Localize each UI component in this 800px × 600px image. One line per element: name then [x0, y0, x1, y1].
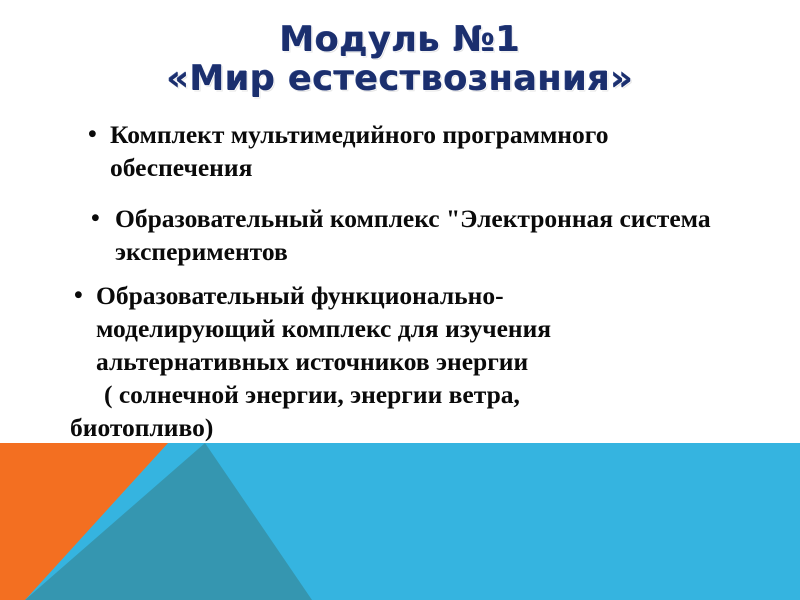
bullet-item-1: • Комплект мультимедийного программного … [0, 118, 800, 184]
bullet-marker-3: • [74, 280, 83, 313]
bullet-3-line-4: ( солнечной энергии, энергии ветра, [104, 378, 776, 411]
bullet-text-1: Комплект мультимедийного программного об… [110, 118, 750, 184]
bullet-marker-2: • [91, 203, 100, 236]
bullet-3-line-1: Образовательный функционально- [96, 279, 776, 312]
bullet-3-line-5: биотопливо) [70, 411, 776, 444]
slide-body: • Комплект мультимедийного программного … [0, 118, 800, 444]
bottom-decoration-band [0, 443, 800, 600]
title-line-1: Модуль №1 [0, 22, 800, 59]
bullet-item-3: • Образовательный функционально- моделир… [0, 279, 800, 445]
bullet-3-line-3: альтернативных источников энергии [96, 345, 776, 378]
bullet-text-2: Образовательный комплекс "Электронная си… [115, 202, 755, 268]
bullet-item-2: • Образовательный комплекс "Электронная … [0, 202, 800, 268]
bullet-text-3: Образовательный функционально- моделирую… [96, 279, 776, 445]
bullet-1-line-2: обеспечения [110, 153, 252, 182]
decoration-shapes [0, 443, 800, 600]
bullet-3-line-2: моделирующий комплекс для изучения [96, 312, 776, 345]
bullet-marker-1: • [88, 119, 97, 152]
bullet-1-line-1: Комплект мультимедийного программного [110, 120, 608, 149]
title-line-2: «Мир естествознания» [0, 61, 800, 98]
slide-canvas: Модуль №1 «Мир естествознания» • Комплек… [0, 0, 800, 600]
bullet-2-line-1: Образовательный комплекс "Электронная [115, 204, 613, 233]
slide-title: Модуль №1 «Мир естествознания» [0, 22, 800, 98]
